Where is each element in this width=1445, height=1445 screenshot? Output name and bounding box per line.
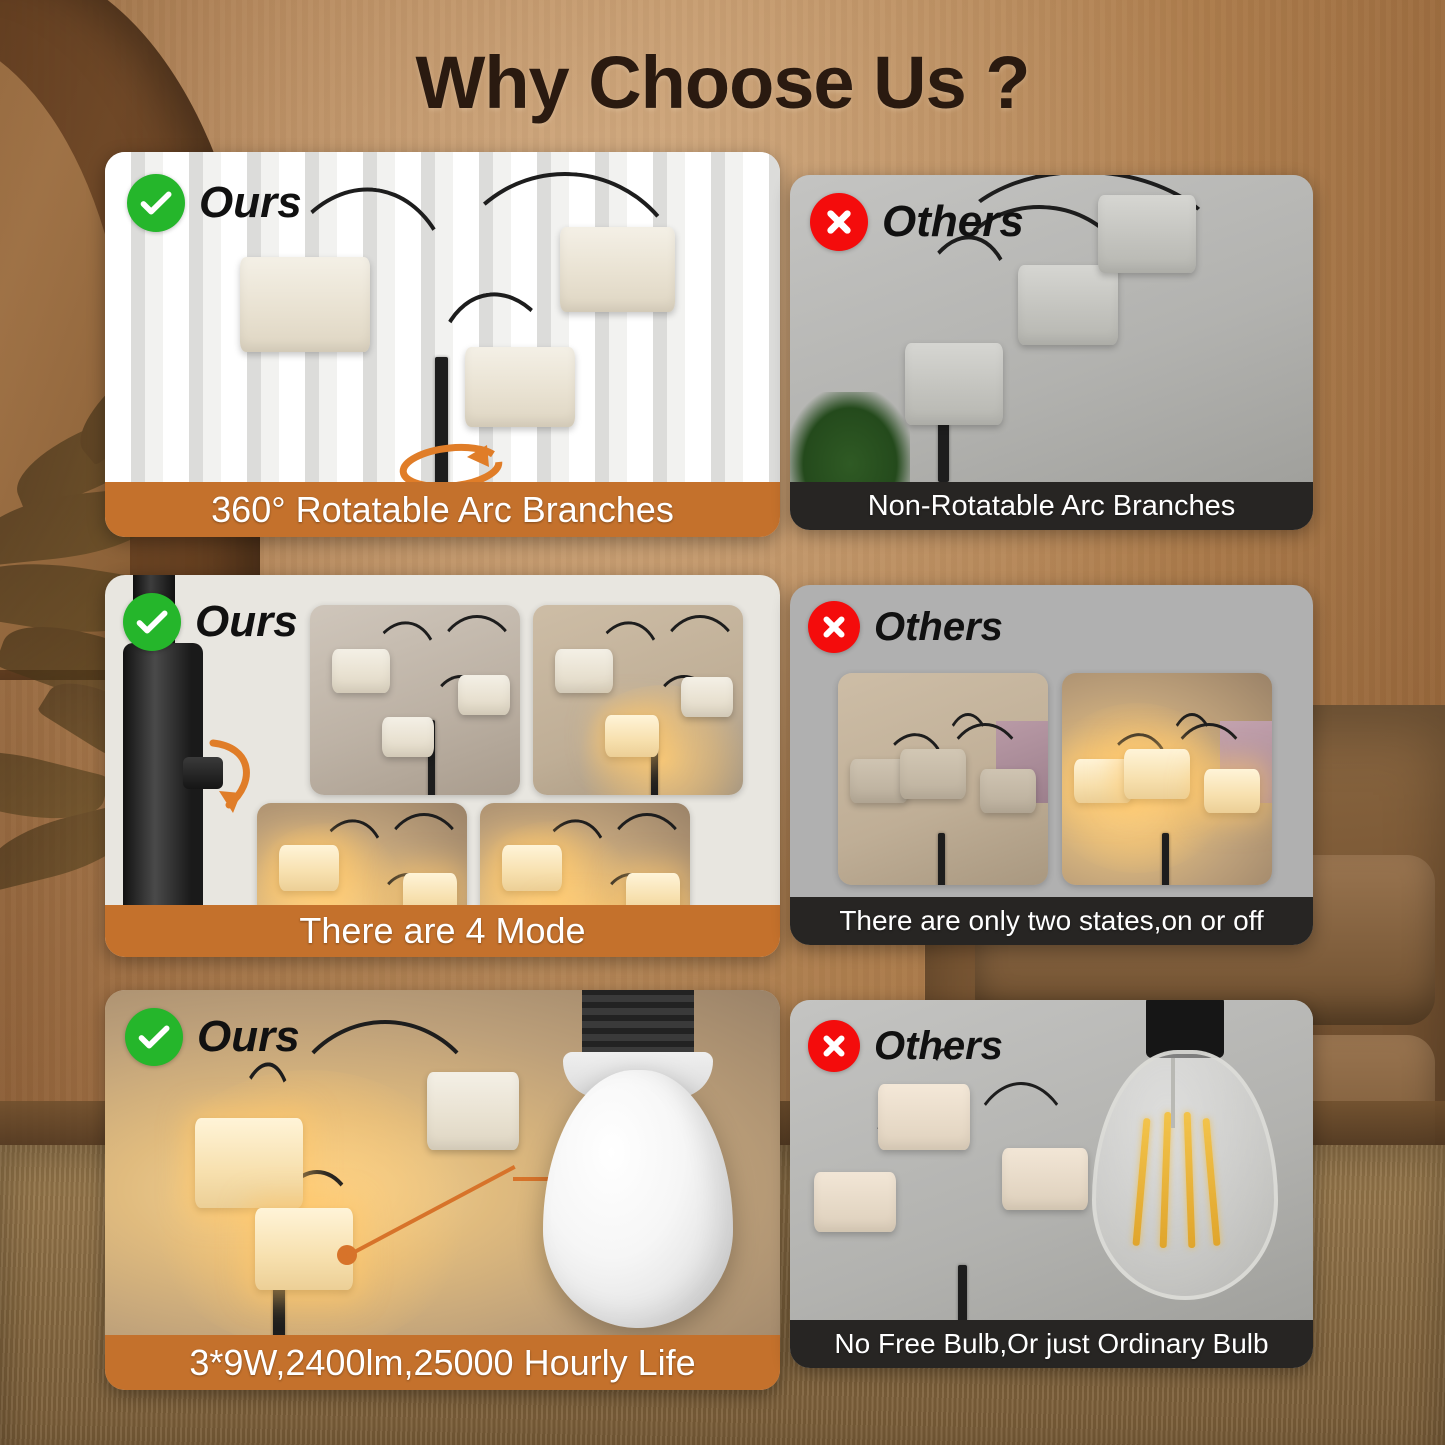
comparison-2-ours-image: Ours <box>105 575 780 905</box>
comparison-1-ours-caption: 360° Rotatable Arc Branches <box>211 489 674 531</box>
rotation-arrow-icon <box>391 437 511 482</box>
lamp-shade-mid <box>1018 265 1118 345</box>
comparison-2-others-image: Others <box>790 585 1313 897</box>
lamp-pole <box>958 1265 967 1320</box>
lamp-shade-left <box>195 1118 303 1208</box>
check-icon <box>125 1008 183 1066</box>
comparison-2-others-badge-label: Others <box>874 605 1003 650</box>
lamp-shade-right <box>427 1072 519 1150</box>
comparison-3-ours-caption: 3*9W,2400lm,25000 Hourly Life <box>189 1342 695 1384</box>
comparison-1-others-caption: Non-Rotatable Arc Branches <box>868 490 1236 523</box>
comparison-2-others-badge: Others <box>808 601 1003 653</box>
filament-stem <box>1171 1058 1175 1128</box>
plant-in-photo <box>790 392 910 482</box>
comparison-3-others-panel: Others No Free Bulb,Or just Ordinary Bul… <box>790 1000 1313 1368</box>
comparison-2-ours-caption-bar: There are 4 Mode <box>105 905 780 957</box>
comparison-1-ours-badge-label: Ours <box>199 178 302 228</box>
lamp-shade-top <box>878 1084 970 1150</box>
comparison-2-others-caption-bar: There are only two states,on or off <box>790 897 1313 945</box>
comparison-3-others-badge-label: Others <box>874 1024 1003 1069</box>
comparison-1-ours-image: Ours <box>105 152 780 482</box>
cross-icon <box>808 1020 860 1072</box>
mode-thumbnail-4 <box>480 803 690 905</box>
cross-icon <box>808 601 860 653</box>
comparison-3-ours-badge: Ours <box>125 1008 300 1066</box>
comparison-2-ours-badge-label: Ours <box>195 597 298 647</box>
comparison-3-ours-badge-label: Ours <box>197 1012 300 1062</box>
mode-thumbnail-1 <box>310 605 520 795</box>
comparison-1-others-panel: Others Non-Rotatable Arc Branches <box>790 175 1313 530</box>
mode-thumbnail-3 <box>257 803 467 905</box>
comparison-3-others-image: Others <box>790 1000 1313 1320</box>
check-icon <box>123 593 181 651</box>
comparison-3-ours-panel: Ours 3*9W,2400lm,25000 Hourly Life <box>105 990 780 1390</box>
comparison-3-others-caption-bar: No Free Bulb,Or just Ordinary Bulb <box>790 1320 1313 1368</box>
comparison-3-ours-image: Ours <box>105 990 780 1335</box>
comparison-1-ours-panel: Ours 360° Rotatable Arc Branches <box>105 152 780 537</box>
comparison-3-ours-caption-bar: 3*9W,2400lm,25000 Hourly Life <box>105 1335 780 1390</box>
comparison-1-ours-caption-bar: 360° Rotatable Arc Branches <box>105 482 780 537</box>
lamp-shade-right <box>1002 1148 1088 1210</box>
lamp-shade-center <box>465 347 575 427</box>
comparison-1-others-badge: Others <box>810 193 1024 251</box>
lamp-shade-low <box>905 343 1003 425</box>
comparison-2-ours-badge: Ours <box>123 593 298 651</box>
comparison-2-ours-caption: There are 4 Mode <box>299 910 585 952</box>
mode-thumbnail-2 <box>533 605 743 795</box>
comparison-3-others-badge: Others <box>808 1020 1003 1072</box>
comparison-1-others-badge-label: Others <box>882 197 1024 247</box>
lamp-shade-high <box>1098 195 1196 273</box>
check-icon <box>127 174 185 232</box>
lamp-shade-left <box>814 1172 896 1232</box>
comparison-2-ours-panel: Ours There are 4 Mode <box>105 575 780 957</box>
lamp-shade-right <box>560 227 675 312</box>
comparison-2-others-caption: There are only two states,on or off <box>839 905 1263 937</box>
lamp-shade-left <box>240 257 370 352</box>
state-thumbnail-off <box>838 673 1048 885</box>
dimmer-rotate-arrow-icon <box>203 735 265 820</box>
comparison-3-others-caption: No Free Bulb,Or just Ordinary Bulb <box>834 1328 1268 1360</box>
cross-icon <box>810 193 868 251</box>
comparison-1-others-image: Others <box>790 175 1313 482</box>
comparison-1-others-caption-bar: Non-Rotatable Arc Branches <box>790 482 1313 530</box>
state-thumbnail-on <box>1062 673 1272 885</box>
comparison-1-ours-badge: Ours <box>127 174 302 232</box>
page-title: Why Choose Us ? <box>0 40 1445 125</box>
comparison-2-others-panel: Others There are only two stat <box>790 585 1313 945</box>
